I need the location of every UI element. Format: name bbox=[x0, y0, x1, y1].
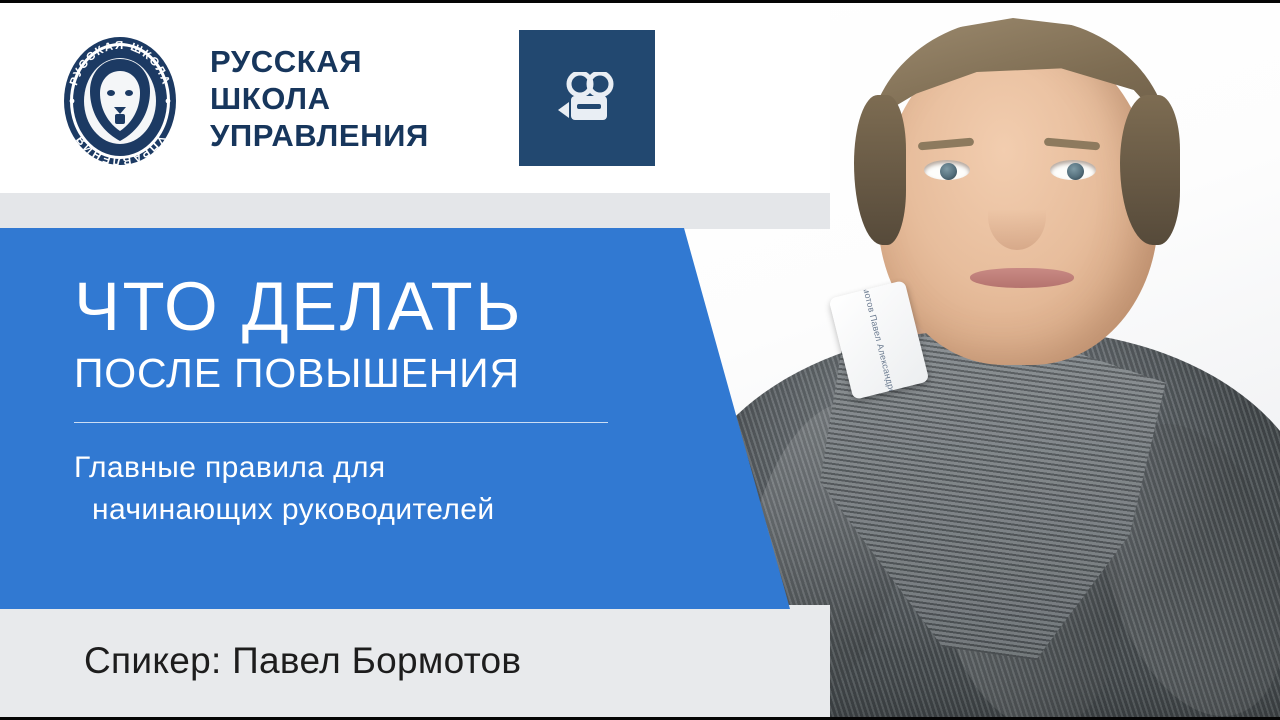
header-bar: РУССКАЯ ШКОЛА УПРАВЛЕНИЯ РУССКАЯ ШКОЛА У… bbox=[0, 3, 830, 193]
title-main: ЧТО ДЕЛАТЬ bbox=[74, 270, 790, 344]
brand-line-1: РУССКАЯ bbox=[210, 43, 429, 80]
nose bbox=[988, 182, 1046, 250]
title-divider bbox=[74, 422, 608, 423]
name-badge-text: Бормотов Павел Александрович bbox=[856, 280, 902, 400]
title-subtitle: ПОСЛЕ ПОВЫШЕНИЯ bbox=[74, 350, 790, 396]
brand-line-3: УПРАВЛЕНИЯ bbox=[210, 117, 429, 154]
tagline: Главные правила для начинающих руководит… bbox=[74, 447, 790, 531]
mouth bbox=[970, 268, 1074, 288]
tagline-line-2: начинающих руководителей bbox=[92, 489, 790, 531]
tagline-line-1: Главные правила для bbox=[74, 447, 790, 489]
speaker-label: Спикер: Павел Бормотов bbox=[84, 640, 521, 682]
iris-right bbox=[1067, 163, 1084, 180]
brand-line-2: ШКОЛА bbox=[210, 80, 429, 117]
video-title-slide: Бормотов Павел Александрович bbox=[0, 0, 1280, 720]
brand-lockup: РУССКАЯ ШКОЛА УПРАВЛЕНИЯ РУССКАЯ ШКОЛА У… bbox=[58, 25, 655, 171]
top-letterbox-bar bbox=[0, 0, 1280, 3]
movie-camera-icon bbox=[555, 72, 619, 124]
hair-side-left bbox=[854, 95, 906, 245]
brand-name: РУССКАЯ ШКОЛА УПРАВЛЕНИЯ bbox=[210, 43, 429, 154]
iris-left bbox=[940, 163, 957, 180]
title-panel: ЧТО ДЕЛАТЬ ПОСЛЕ ПОВЫШЕНИЯ Главные прави… bbox=[0, 228, 790, 609]
video-badge-tile bbox=[519, 30, 655, 166]
header-grey-separator bbox=[0, 193, 830, 229]
lion-head-emblem-icon: РУССКАЯ ШКОЛА УПРАВЛЕНИЯ bbox=[58, 25, 182, 171]
